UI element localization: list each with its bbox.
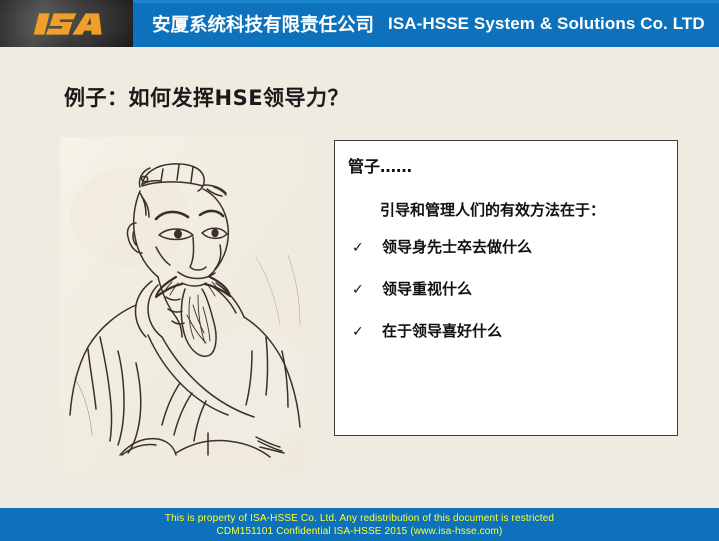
page-title: 例子：如何发挥HSE领导力？: [64, 82, 349, 112]
slide-header: 安厦系统科技有限责任公司 ISA-HSSE System & Solutions…: [0, 0, 719, 47]
bullet-list: ✓ 领导身先士卒去做什么 ✓ 领导重视什么 ✓ 在于领导喜好什么: [348, 236, 668, 362]
check-icon: ✓: [348, 324, 382, 340]
list-item-label: 在于领导喜好什么: [382, 320, 502, 341]
company-name-cn: 安厦系统科技有限责任公司: [152, 11, 374, 37]
textbox-heading: 管子……: [348, 153, 412, 177]
logo-panel: [0, 0, 133, 47]
slide-canvas: 安厦系统科技有限责任公司 ISA-HSSE System & Solutions…: [0, 0, 719, 541]
slide-footer: This is property of ISA-HSSE Co. Ltd. An…: [0, 508, 719, 541]
company-name-en: ISA-HSSE System & Solutions Co. LTD: [388, 14, 705, 34]
content-textbox: 管子…… 引导和管理人们的有效方法在于： ✓ 领导身先士卒去做什么 ✓ 领导重视…: [334, 140, 678, 436]
footer-line-2: CDM151101 Confidential ISA-HSSE 2015 (ww…: [0, 526, 719, 539]
list-item: ✓ 在于领导喜好什么: [348, 320, 668, 362]
footer-line-1: This is property of ISA-HSSE Co. Ltd. An…: [0, 513, 719, 526]
isa-logo-icon: [27, 9, 107, 39]
check-icon: ✓: [348, 240, 382, 256]
list-item-label: 领导身先士卒去做什么: [382, 236, 532, 257]
textbox-lead-text: 引导和管理人们的有效方法在于：: [380, 199, 605, 220]
list-item: ✓ 领导身先士卒去做什么: [348, 236, 668, 278]
list-item-label: 领导重视什么: [382, 278, 472, 299]
portrait-illustration-icon: [60, 137, 310, 472]
portrait-image: [60, 137, 310, 472]
header-title-group: 安厦系统科技有限责任公司 ISA-HSSE System & Solutions…: [133, 0, 719, 47]
list-item: ✓ 领导重视什么: [348, 278, 668, 320]
check-icon: ✓: [348, 282, 382, 298]
